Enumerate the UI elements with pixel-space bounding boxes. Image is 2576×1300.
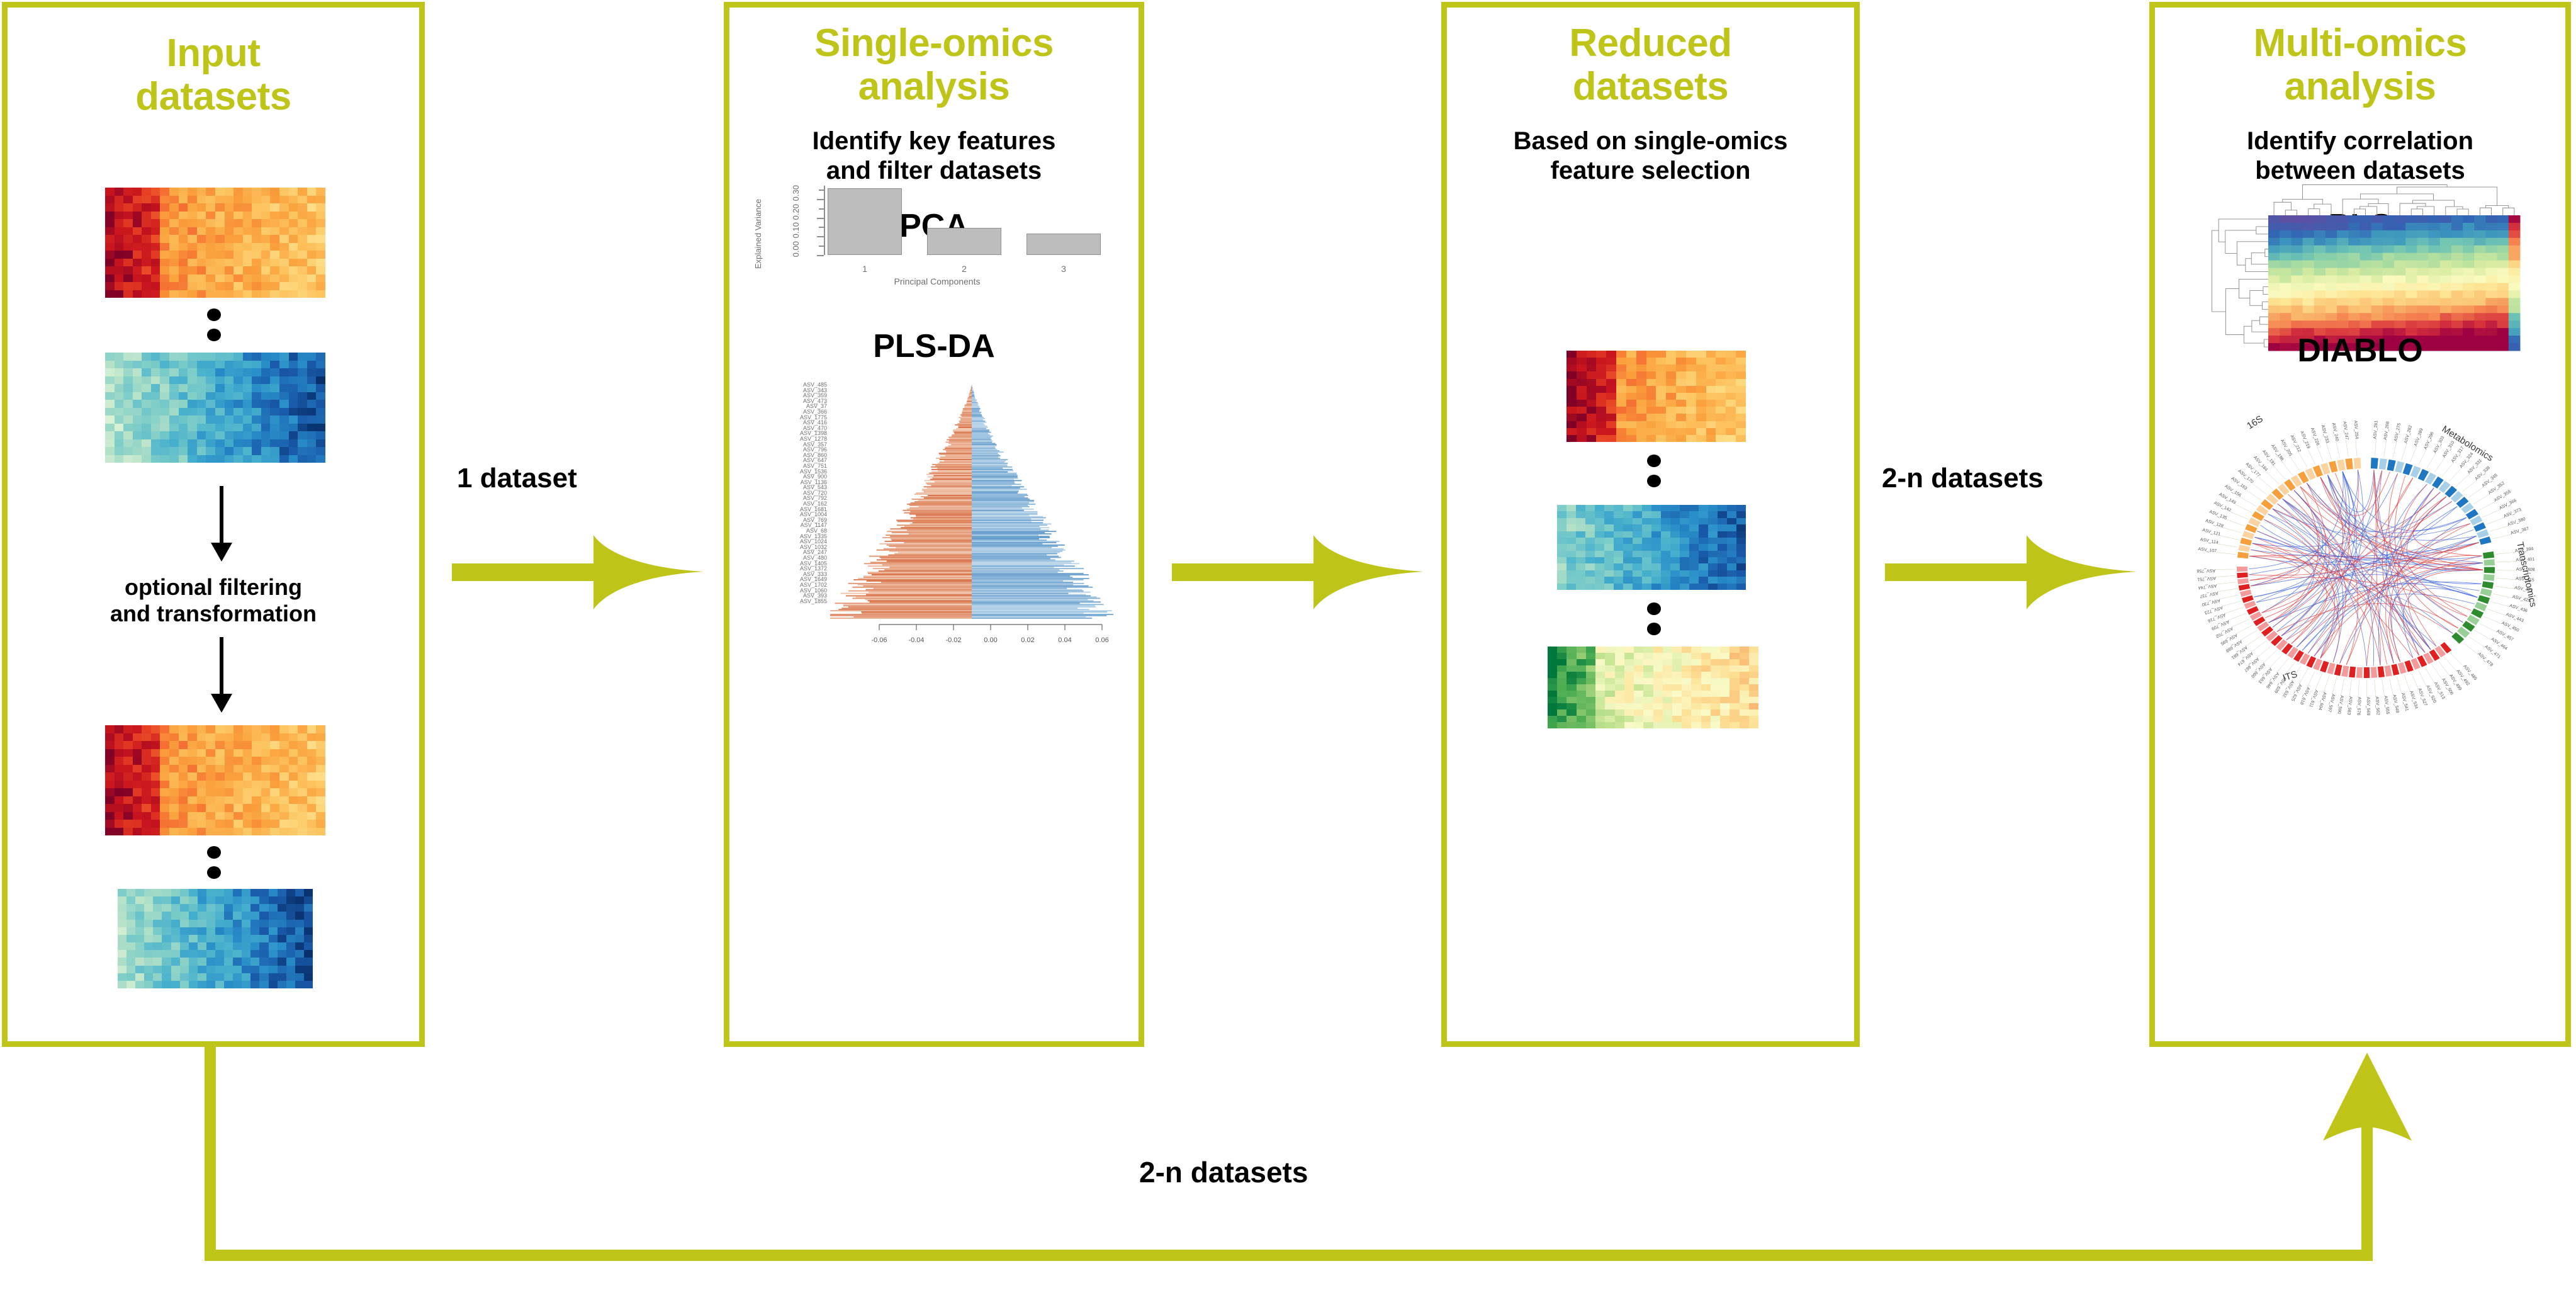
panel-reduced-datasets: Reduced datasets Based on single-omics f…: [1441, 2, 1860, 1047]
svg-text:ASV_527: ASV_527: [2417, 687, 2427, 706]
arrow-to-reduced-datasets: [1172, 535, 1424, 611]
svg-text:ASV_562: ASV_562: [2375, 696, 2380, 715]
heatmap-input-filtered-omics2: [118, 889, 313, 988]
svg-text:ASV_219: ASV_219: [2299, 431, 2310, 449]
reduced-ellipsis-1: [1647, 455, 1661, 487]
svg-text:ASV_142: ASV_142: [2213, 501, 2232, 513]
svg-text:ASV_282: ASV_282: [2404, 425, 2413, 444]
plsda-chart: ASV_485ASV_343ASV_359ASV_473ASV_37ASV_36…: [755, 382, 1120, 747]
input-arrow-down-bottom: [209, 637, 234, 713]
panel-single-omics-analysis: Single-omics analysis Identify key featu…: [724, 2, 1144, 1047]
panel-input-filter-label: optional filtering and transformation: [8, 574, 419, 628]
svg-text:ASV_114: ASV_114: [2200, 538, 2219, 545]
panel-input-title-line1: Input: [8, 31, 419, 75]
input-ellipsis-top: [207, 308, 221, 341]
svg-text:ASV_387: ASV_387: [2511, 527, 2529, 536]
svg-text:ASV_226: ASV_226: [2310, 427, 2320, 446]
svg-text:ASV_611: ASV_611: [2309, 689, 2319, 708]
svg-text:ASV_296: ASV_296: [2424, 431, 2435, 450]
panel-reduced-subtitle: Based on single-omics feature selection: [1447, 127, 1854, 186]
heatmap-input-omics2: [105, 353, 325, 463]
plsda-feature-labels: ASV_485ASV_343ASV_359ASV_473ASV_37ASV_36…: [755, 382, 827, 604]
svg-text:ASV_583: ASV_583: [2346, 696, 2353, 715]
diablo-chord-diagram: ASV_107ASV_114ASV_121ASV_128ASV_135ASV_1…: [2190, 385, 2542, 725]
svg-text:ASV_723: ASV_723: [2204, 605, 2223, 615]
pca-x-axis-label: Principal Components: [748, 276, 1126, 286]
svg-text:ASV_275: ASV_275: [2393, 422, 2402, 441]
arrow-2n-datasets: [1885, 535, 2137, 611]
panel-multi-omics-analysis: Multi-omics analysis Identify correlatio…: [2149, 2, 2571, 1047]
panel-reduced-title-line2: datasets: [1447, 65, 1854, 108]
panel-multi-omics-title-line1: Multi-omics: [2155, 21, 2565, 65]
svg-text:ASV_268: ASV_268: [2383, 421, 2390, 440]
svg-text:ASV_212: ASV_212: [2289, 434, 2302, 453]
svg-text:ASV_289: ASV_289: [2414, 427, 2424, 446]
svg-text:ASV_450: ASV_450: [2501, 621, 2520, 633]
panel-single-omics-title-line1: Single-omics: [729, 21, 1139, 65]
reduced-sub-line2: feature selection: [1447, 156, 1854, 186]
input-arrow-down-top: [209, 486, 234, 562]
svg-text:ASV_555: ASV_555: [2383, 696, 2390, 715]
svg-text:ASV_478: ASV_478: [2477, 652, 2494, 667]
svg-text:ASV_730: ASV_730: [2202, 598, 2220, 607]
heatmap-reduced-omics2: [1557, 505, 1746, 590]
svg-text:ITS: ITS: [2281, 669, 2298, 683]
svg-text:ASV_737: ASV_737: [2200, 591, 2219, 598]
svg-text:ASV_373: ASV_373: [2503, 507, 2522, 519]
svg-text:ASV_261: ASV_261: [2373, 421, 2379, 439]
plsda-x-axis: [830, 624, 1113, 633]
feedback-loop-arrowhead: [2322, 1053, 2414, 1144]
arrow-1-dataset-label: 1 dataset: [457, 463, 577, 494]
svg-text:ASV_240: ASV_240: [2331, 422, 2339, 441]
svg-text:ASV_233: ASV_233: [2320, 424, 2330, 443]
plsda-loading-bars: [830, 382, 1113, 621]
pca-y-axis-label: Explained Variance: [753, 187, 763, 269]
panel-single-omics-subtitle: Identify key features and filter dataset…: [729, 127, 1139, 186]
panel-multi-omics-title-line2: analysis: [2155, 65, 2565, 108]
panel-reduced-title-line1: Reduced: [1447, 21, 1854, 65]
pca-chart: Explained Variance 0.000.100.200.30 123 …: [748, 181, 1126, 294]
svg-text:ASV_366: ASV_366: [2499, 499, 2517, 511]
svg-text:ASV_758: ASV_758: [2196, 568, 2215, 572]
feedback-loop-horizontal: [205, 1250, 2373, 1261]
single-omics-sub-line1: Identify key features: [729, 127, 1139, 156]
reduced-ellipsis-2: [1647, 602, 1661, 635]
feedback-loop-label: 2-n datasets: [1139, 1155, 1308, 1189]
reduced-sub-line1: Based on single-omics: [1447, 127, 1854, 156]
feedback-loop-vertical-right: [2361, 1138, 2373, 1261]
svg-text:ASV_744: ASV_744: [2198, 583, 2217, 590]
input-ellipsis-bottom: [207, 846, 221, 879]
svg-text:ASV_128: ASV_128: [2205, 519, 2224, 529]
svg-text:ASV_590: ASV_590: [2337, 695, 2344, 714]
svg-text:ASV_303: ASV_303: [2433, 436, 2446, 455]
diablo-plot-title: DIABLO: [2155, 332, 2565, 370]
arrow-2n-datasets-label: 2-n datasets: [1882, 463, 2044, 494]
multi-omics-sub-line1: Identify correlation: [2155, 127, 2565, 156]
svg-text:ASV_569: ASV_569: [2366, 697, 2370, 716]
svg-text:ASV_380: ASV_380: [2507, 517, 2526, 527]
svg-text:ASV_436: ASV_436: [2509, 604, 2528, 614]
svg-text:ASV_135: ASV_135: [2208, 510, 2227, 521]
svg-text:ASV_121: ASV_121: [2202, 528, 2220, 537]
panel-input-title-line2: datasets: [8, 75, 419, 118]
panel-input-datasets: Input datasets optional filtering and tr…: [2, 2, 425, 1047]
arrow-1-dataset: [452, 535, 704, 611]
svg-text:ASV_247: ASV_247: [2342, 421, 2349, 440]
svg-text:ASV_751: ASV_751: [2197, 575, 2216, 581]
svg-text:ASV_457: ASV_457: [2496, 629, 2514, 642]
heatmap-input-filtered-omics1: [105, 725, 325, 835]
svg-text:ASV_443: ASV_443: [2506, 613, 2524, 623]
svg-text:16S: 16S: [2245, 414, 2265, 432]
svg-text:ASV_576: ASV_576: [2356, 697, 2361, 716]
svg-text:ASV_107: ASV_107: [2198, 547, 2217, 554]
svg-text:ASV_597: ASV_597: [2327, 693, 2335, 712]
heatmap-reduced-omics1: [1566, 351, 1746, 442]
svg-text:ASV_548: ASV_548: [2392, 694, 2399, 713]
panel-single-omics-title-line2: analysis: [729, 65, 1139, 108]
panel-reduced-title: Reduced datasets: [1447, 21, 1854, 109]
filter-label-line1: optional filtering: [8, 574, 419, 601]
panel-input-title: Input datasets: [8, 31, 419, 119]
heatmap-reduced-omics3: [1548, 647, 1758, 728]
svg-text:ASV_534: ASV_534: [2409, 691, 2418, 709]
svg-text:ASV_310: ASV_310: [2442, 441, 2456, 459]
plsda-plot-title: PLS-DA: [729, 327, 1139, 365]
svg-text:ASV_254: ASV_254: [2353, 421, 2359, 439]
filter-label-line2: and transformation: [8, 601, 419, 627]
svg-text:ASV_520: ASV_520: [2425, 685, 2436, 704]
svg-text:ASV_604: ASV_604: [2317, 691, 2327, 710]
panel-single-omics-title: Single-omics analysis: [729, 21, 1139, 109]
panel-multi-omics-title: Multi-omics analysis: [2155, 21, 2565, 109]
feedback-loop-vertical-left: [205, 1047, 216, 1261]
heatmap-input-omics1: [105, 188, 325, 298]
svg-text:ASV_541: ASV_541: [2400, 692, 2409, 711]
